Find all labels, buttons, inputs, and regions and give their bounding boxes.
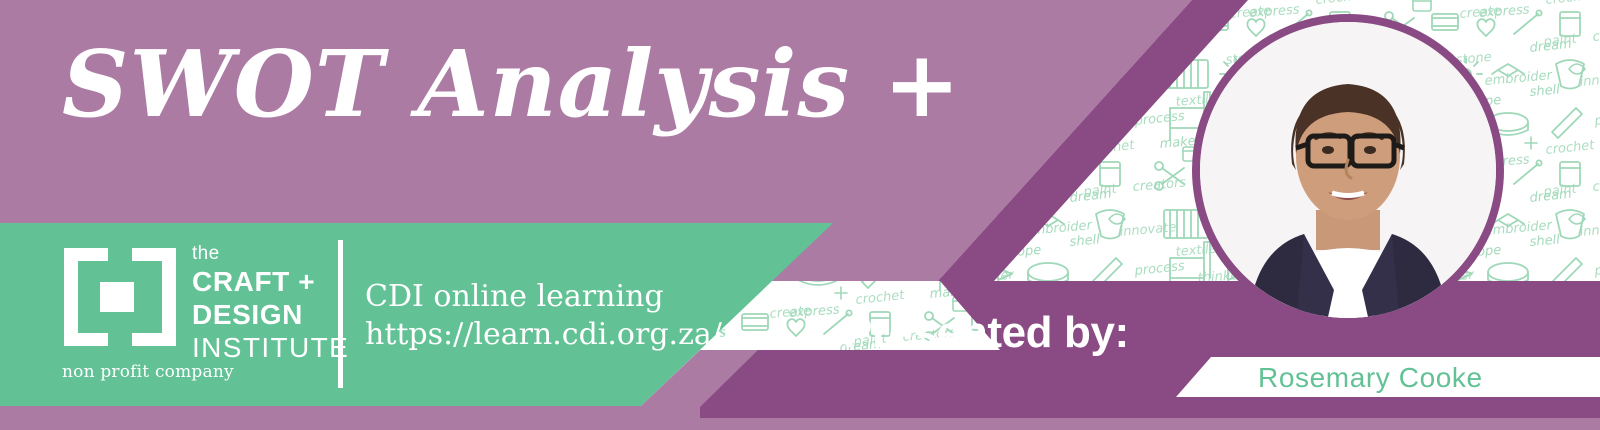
logo-wordmark: the CRAFT + DESIGN INSTITUTE (192, 244, 349, 362)
presenter-avatar (1192, 14, 1504, 326)
contact-block: CDI online learning https://learn.cdi.or… (365, 278, 722, 355)
presenter-name: Rosemary Cooke (1258, 362, 1483, 394)
logo-craft-text: CRAFT + (192, 268, 349, 296)
logo-design-text: DESIGN (192, 301, 349, 329)
logo-subtitle: non profit company (62, 362, 234, 382)
page-title: SWOT Analysis + (62, 36, 961, 133)
bracket-square-logo-icon (64, 248, 176, 346)
contact-line-1: CDI online learning (365, 278, 722, 316)
contact-url-link[interactable]: https://learn.cdi.org.za/ (365, 316, 722, 354)
logo-institute-text: INSTITUTE (192, 334, 349, 362)
presented-by-label: Presented by: (843, 308, 1129, 358)
presentation-title-banner: dream makers rope shell embroider proces… (0, 0, 1600, 430)
vertical-divider (338, 240, 343, 388)
logo-the-text: the (192, 244, 349, 263)
